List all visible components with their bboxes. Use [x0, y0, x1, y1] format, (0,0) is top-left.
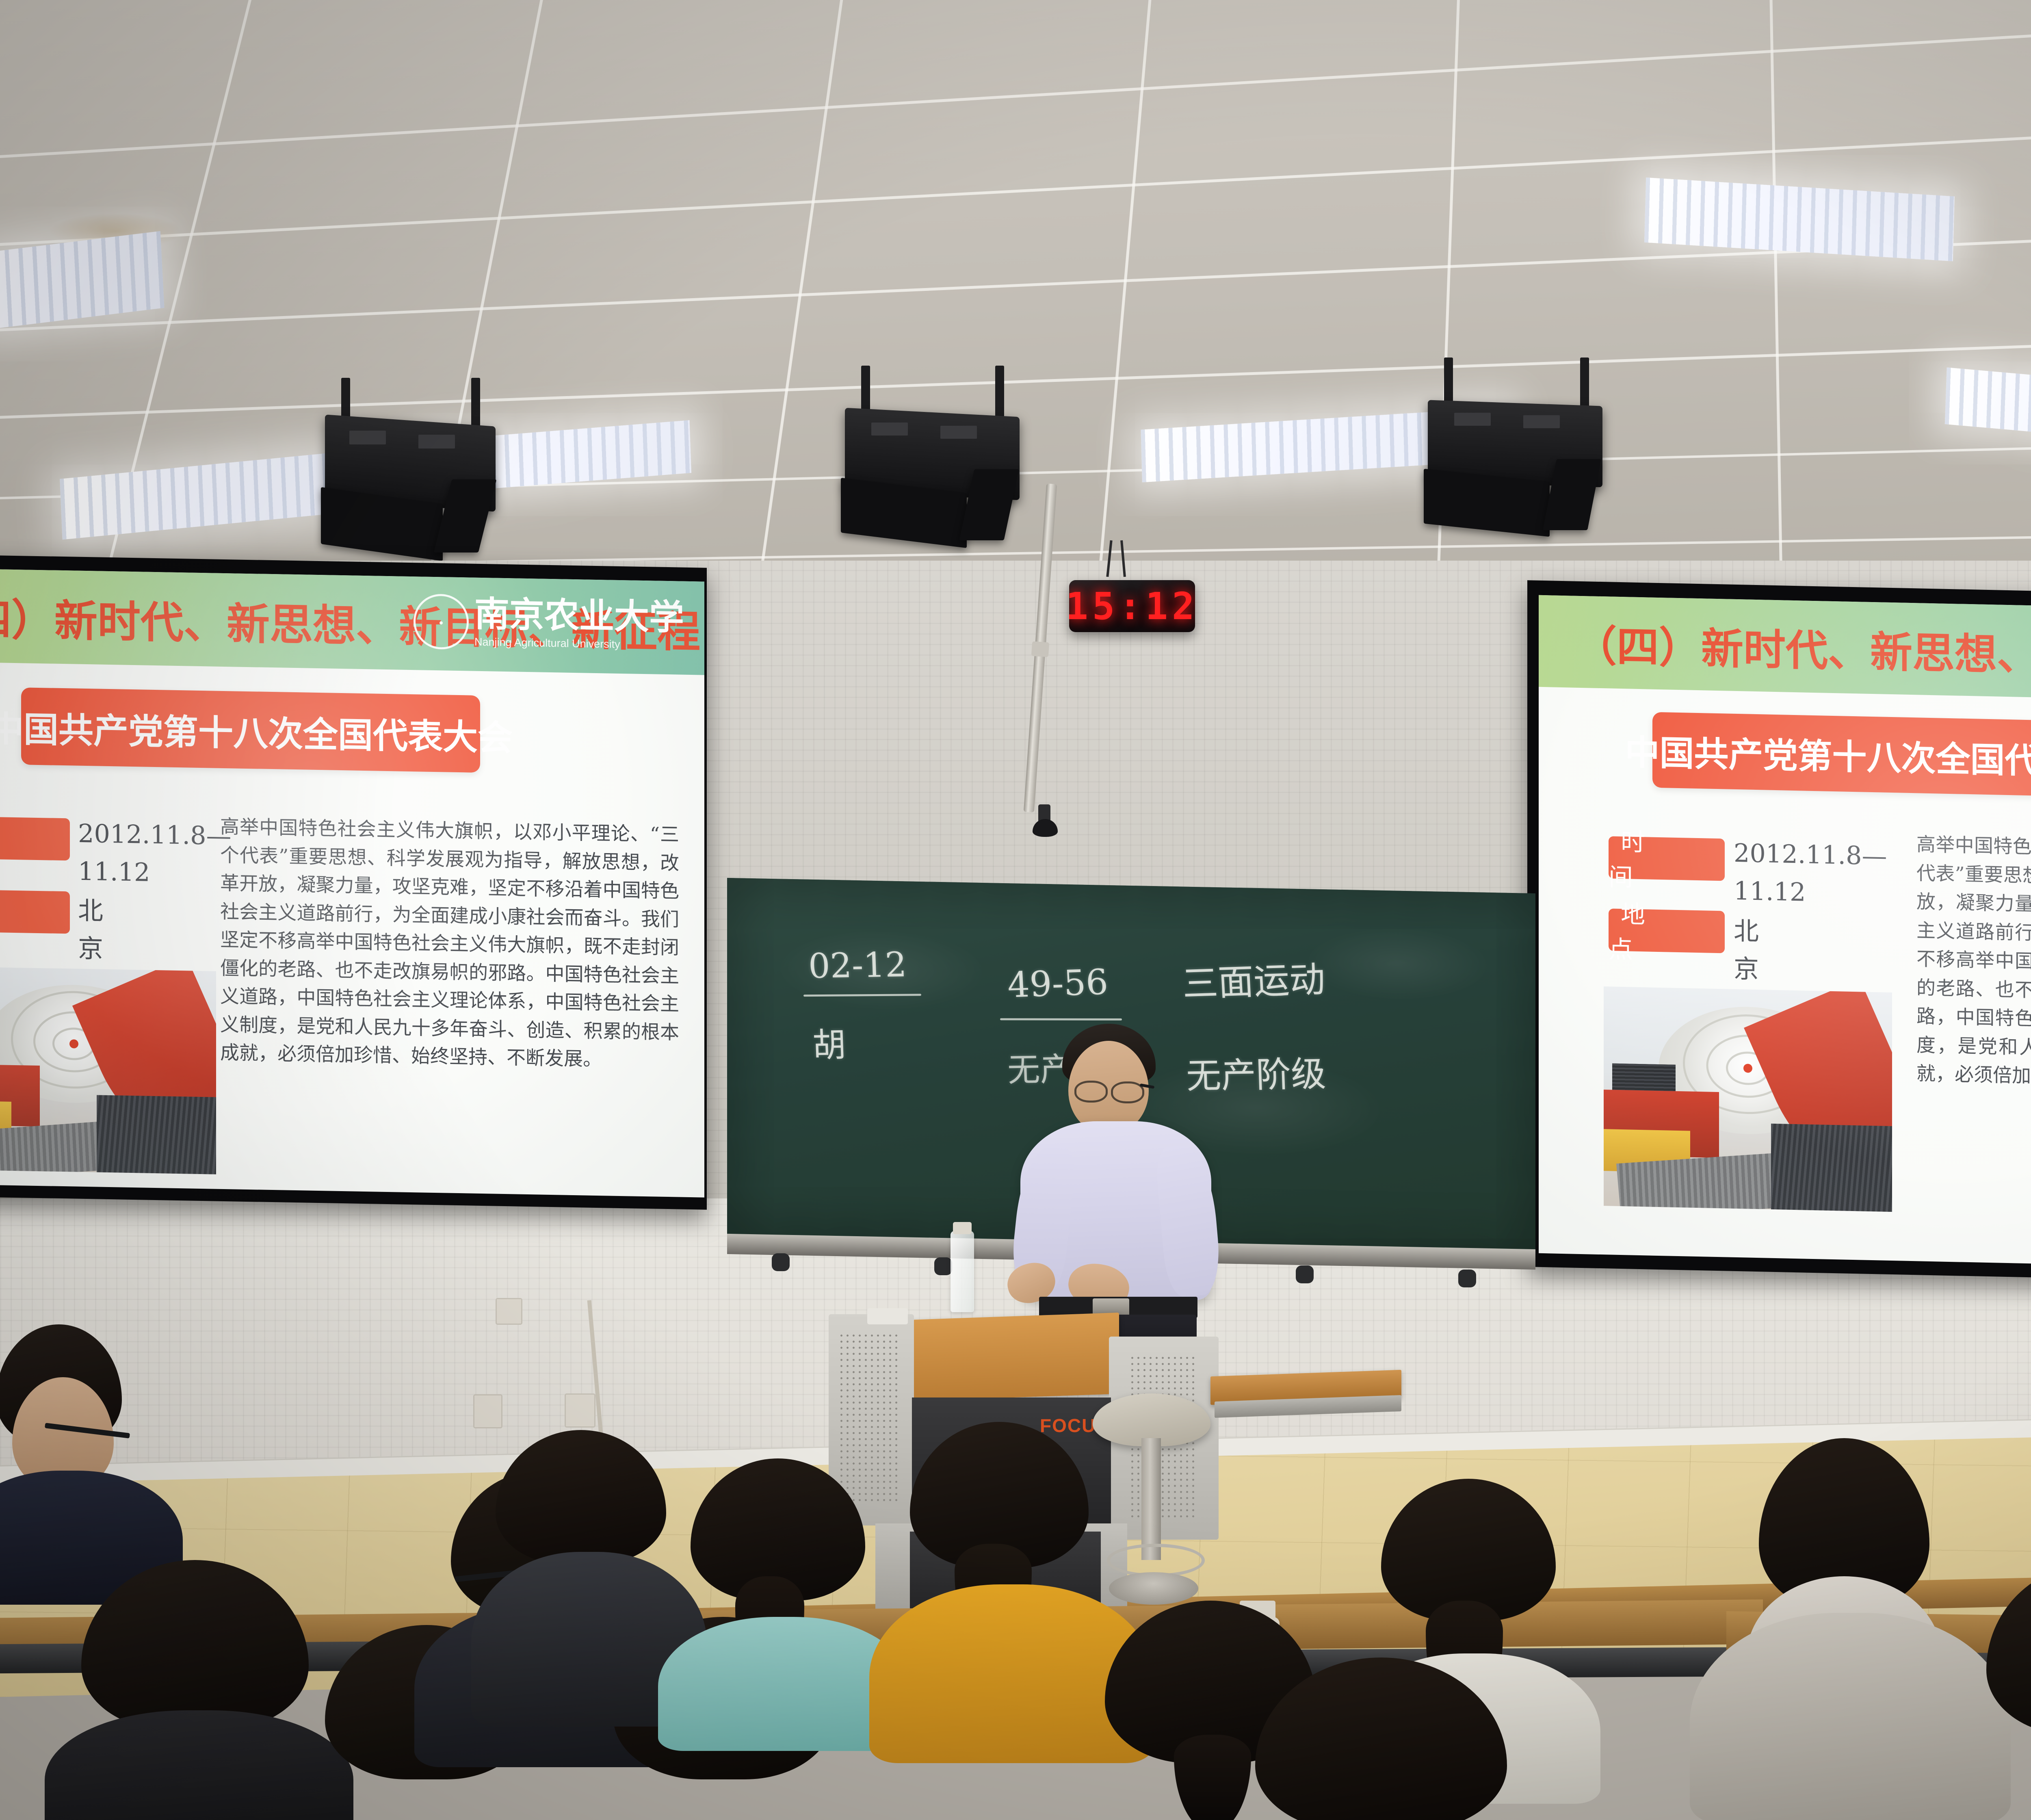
- stage-spotlight: [309, 378, 536, 548]
- chalk-note: 胡: [812, 1018, 847, 1066]
- student: [61, 1560, 337, 1820]
- wall-socket: [496, 1298, 522, 1325]
- chalk-note: 三面运动: [1181, 951, 1326, 1007]
- eyeglasses: [1074, 1081, 1108, 1103]
- ceiling-light-panel: [1945, 367, 2031, 453]
- university-logo: 南京农业大学 Nanjing Agricultural University: [414, 594, 684, 654]
- meta-value-time: 2012.11.8— 11.12: [1734, 834, 1887, 913]
- slide-banner: 中国共产党第十八次全国代表大会: [1652, 712, 2031, 797]
- slide-body-text: 高举中国特色社会主义伟大旗帜，以邓小平理论、“三个代表”重要思想、科学发展观为指…: [220, 813, 679, 1075]
- ceiling-light-panel: [0, 231, 165, 334]
- slide-title: （四）新时代、新思想、新目标、新征程: [1574, 611, 2031, 688]
- ceiling-light-panel: [1644, 178, 1955, 261]
- meta-tag-place: 地 点: [0, 889, 70, 934]
- student: [1962, 1564, 2031, 1820]
- microphone-capsule: [1033, 819, 1058, 837]
- nau-seal-icon: [414, 594, 469, 650]
- led-wall-clock: 15:12: [1069, 580, 1195, 632]
- university-name-en: Nanjing Agricultural University: [474, 635, 684, 652]
- congress-hall-photo: [1604, 986, 1892, 1212]
- meta-value-time: 2012.11.8— 11.12: [78, 815, 232, 893]
- ceiling-light-panel: [60, 452, 346, 540]
- slide-header: （四）新时代、新思想、新目标、新征程 南京农业大学 Nanjing Agricu…: [1539, 595, 2031, 706]
- university-name-cn: 南京农业大学: [474, 596, 684, 635]
- slide-body-text: 高举中国特色社会主义伟大旗帜，以邓小平理论、“三个代表”重要思想、科学发展观为指…: [1916, 830, 2031, 1098]
- wall-socket: [565, 1393, 595, 1428]
- student: [666, 1458, 894, 1743]
- chalk-note: 02-12: [808, 945, 907, 986]
- eyeglasses: [1111, 1081, 1144, 1103]
- stage-spotlight: [1414, 357, 1641, 528]
- clock-time: 15:12: [1069, 585, 1195, 628]
- left-slide: 四）新时代、新思想、新目标、新征程 南京农业大学 Nanjing Agricul…: [0, 569, 704, 1198]
- congress-hall-photo: [0, 966, 216, 1174]
- water-bottle: [951, 1231, 974, 1312]
- board-mount: [772, 1253, 790, 1271]
- meta-tag-place: 地 点: [1609, 908, 1725, 953]
- hanging-microphone: [1003, 483, 1076, 837]
- slide-header: 四）新时代、新思想、新目标、新征程 南京农业大学 Nanjing Agricul…: [0, 569, 704, 675]
- lectern-control-panel[interactable]: [867, 1308, 908, 1324]
- meta-tag-time: 时 间: [0, 816, 70, 860]
- lecture-hall-scene: 15:12 四）新时代、新思想、新目标、新征程 南京农业大学 Nanjing A…: [0, 0, 2031, 1820]
- right-projection-screen: （四）新时代、新思想、新目标、新征程 南京农业大学 Nanjing Agricu…: [1527, 580, 2031, 1286]
- wall-socket: [473, 1394, 502, 1428]
- student: [0, 1324, 162, 1592]
- meta-value-place: 北 京: [78, 892, 103, 968]
- student: [1698, 1438, 2007, 1820]
- meta-value-place: 北 京: [1734, 912, 1759, 988]
- slide-banner: 中国共产党第十八次全国代表大会: [21, 687, 480, 773]
- board-mount: [1458, 1270, 1476, 1287]
- meta-tag-time: 时 间: [1609, 836, 1725, 881]
- student: [1243, 1657, 1527, 1820]
- left-projection-screen: 四）新时代、新思想、新目标、新征程 南京农业大学 Nanjing Agricul…: [0, 555, 707, 1209]
- chalk-note: 49-56: [1007, 962, 1109, 1005]
- right-slide: （四）新时代、新思想、新目标、新征程 南京农业大学 Nanjing Agricu…: [1539, 595, 2031, 1272]
